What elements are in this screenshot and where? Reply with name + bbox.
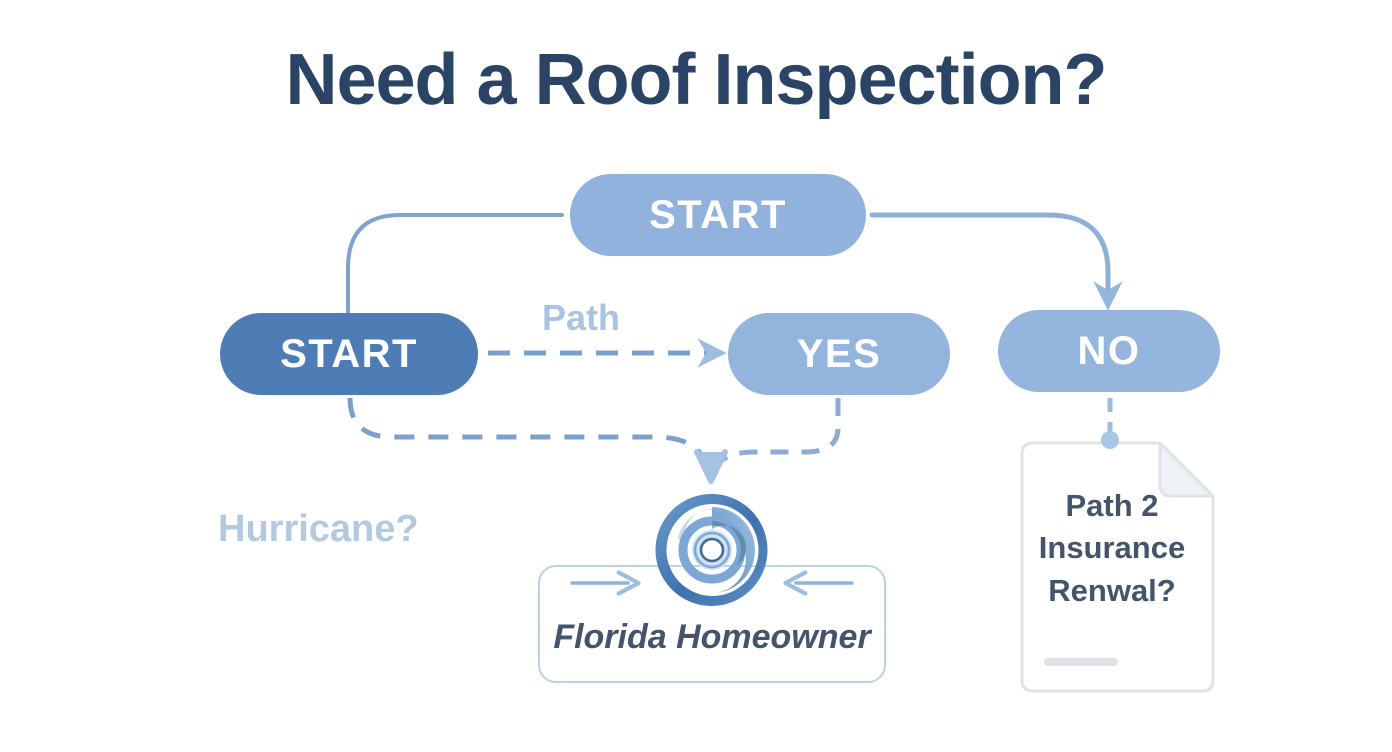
node-no-label: NO xyxy=(1078,329,1141,374)
edge-arrowhead-hurricane xyxy=(697,452,725,481)
text-placeholder-line xyxy=(1044,658,1118,666)
page-title: Need a Roof Inspection? xyxy=(0,44,1392,116)
diagram-canvas: Need a Roof Inspection? xyxy=(0,0,1392,752)
edge-yes-to-hurricane xyxy=(714,398,838,470)
card-document-line-2: Insurance xyxy=(1008,527,1216,569)
node-start-top-label: START xyxy=(649,193,787,238)
hurricane-icon xyxy=(652,490,772,610)
card-document-line-1: Path 2 xyxy=(1008,485,1216,527)
edge-start-to-no xyxy=(872,215,1108,296)
card-document-line-3: Renwal? xyxy=(1008,570,1216,612)
label-hurricane: Hurricane? xyxy=(218,508,419,551)
node-yes-label: YES xyxy=(797,332,882,377)
node-yes[interactable]: YES xyxy=(728,313,950,395)
node-start-top[interactable]: START xyxy=(570,174,866,256)
card-florida-homeowner-label: Florida Homeowner xyxy=(538,618,886,657)
card-document-text: Path 2 Insurance Renwal? xyxy=(1008,485,1216,612)
node-no[interactable]: NO xyxy=(998,310,1220,392)
edge-label-path: Path xyxy=(542,297,620,339)
edge-start-left-to-hurricane xyxy=(350,398,707,468)
node-start-left[interactable]: START xyxy=(220,313,478,395)
node-start-left-label: START xyxy=(280,332,418,377)
